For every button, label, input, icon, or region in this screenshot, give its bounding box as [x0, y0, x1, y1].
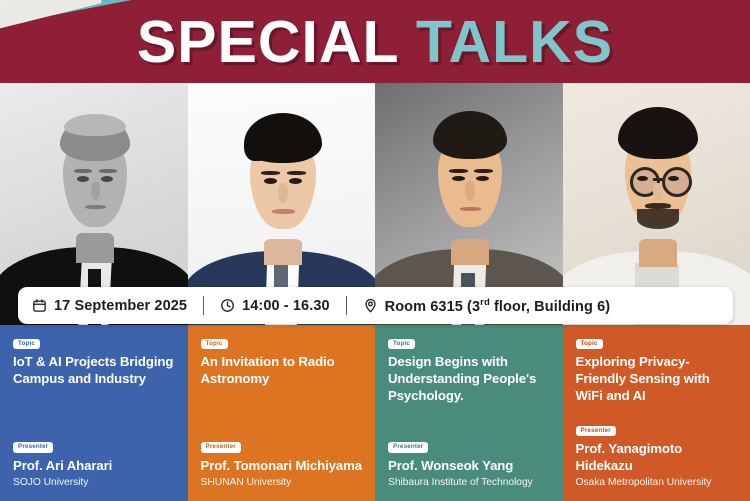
- presenter-university-3: Shibaura Institute of Technology: [388, 476, 555, 489]
- topic-title-2: An Invitation to Radio Astronomy: [201, 354, 363, 388]
- topic-title-4: Exploring Privacy-Friendly Sensing with …: [576, 354, 738, 404]
- event-location-prefix: Room 6315 (3: [385, 298, 481, 314]
- clock-icon: [220, 298, 235, 313]
- title-word-talks: TALKS: [416, 9, 613, 75]
- poster-title: SPECIAL TALKS: [0, 0, 750, 84]
- title-word-special: SPECIAL: [137, 9, 399, 75]
- event-date-text: 17 September 2025: [54, 298, 187, 314]
- topic-badge-1: Topic: [13, 339, 40, 349]
- speaker-card-2[interactable]: Topic An Invitation to Radio Astronomy P…: [188, 325, 376, 501]
- presenter-name-3: Prof. Wonseok Yang: [388, 458, 555, 474]
- presenter-university-1: SOJO University: [13, 476, 180, 489]
- presenter-badge-1: Presenter: [13, 442, 53, 452]
- special-talks-poster: SPECIAL TALKS: [0, 0, 750, 501]
- calendar-icon: [32, 298, 47, 313]
- map-pin-icon: [363, 298, 378, 313]
- info-divider-2: [346, 296, 347, 315]
- presenter-university-2: SHUNAN University: [201, 476, 368, 489]
- event-location-text: Room 6315 (3rd floor, Building 6): [385, 297, 611, 315]
- topic-badge-3: Topic: [388, 339, 415, 349]
- presenter-badge-2: Presenter: [201, 442, 241, 452]
- presenter-name-2: Prof. Tomonari Michiyama: [201, 458, 368, 474]
- presenter-block-4: Presenter Prof. Yanagimoto Hidekazu Osak…: [576, 419, 743, 489]
- event-location-ordinal-suffix: rd: [480, 297, 490, 308]
- presenter-badge-3: Presenter: [388, 442, 428, 452]
- event-location: Room 6315 (3rd floor, Building 6): [363, 297, 611, 315]
- presenter-university-4: Osaka Metropolitan University: [576, 476, 743, 489]
- presenter-name-4: Prof. Yanagimoto Hidekazu: [576, 441, 743, 473]
- presenter-block-1: Presenter Prof. Ari Aharari SOJO Univers…: [13, 435, 180, 489]
- presenter-badge-4: Presenter: [576, 426, 616, 436]
- event-info-bar: 17 September 2025 14:00 - 16.30 Room 631…: [18, 287, 733, 324]
- topic-badge-2: Topic: [201, 339, 228, 349]
- event-location-suffix: floor, Building 6): [490, 298, 610, 314]
- event-time: 14:00 - 16.30: [220, 298, 330, 314]
- event-time-text: 14:00 - 16.30: [242, 298, 330, 314]
- topic-title-1: IoT & AI Projects Bridging Campus and In…: [13, 354, 175, 388]
- info-divider-1: [203, 296, 204, 315]
- presenter-block-3: Presenter Prof. Wonseok Yang Shibaura In…: [388, 435, 555, 489]
- speaker-card-4[interactable]: Topic Exploring Privacy-Friendly Sensing…: [563, 325, 750, 501]
- event-date: 17 September 2025: [32, 298, 187, 314]
- topic-title-3: Design Begins with Understanding People'…: [388, 354, 550, 404]
- topic-badge-4: Topic: [576, 339, 603, 349]
- presenter-block-2: Presenter Prof. Tomonari Michiyama SHUNA…: [201, 435, 368, 489]
- presenter-name-1: Prof. Ari Aharari: [13, 458, 180, 474]
- speaker-card-1[interactable]: Topic IoT & AI Projects Bridging Campus …: [0, 325, 188, 501]
- speaker-card-3[interactable]: Topic Design Begins with Understanding P…: [375, 325, 563, 501]
- speaker-cards: Topic IoT & AI Projects Bridging Campus …: [0, 325, 750, 501]
